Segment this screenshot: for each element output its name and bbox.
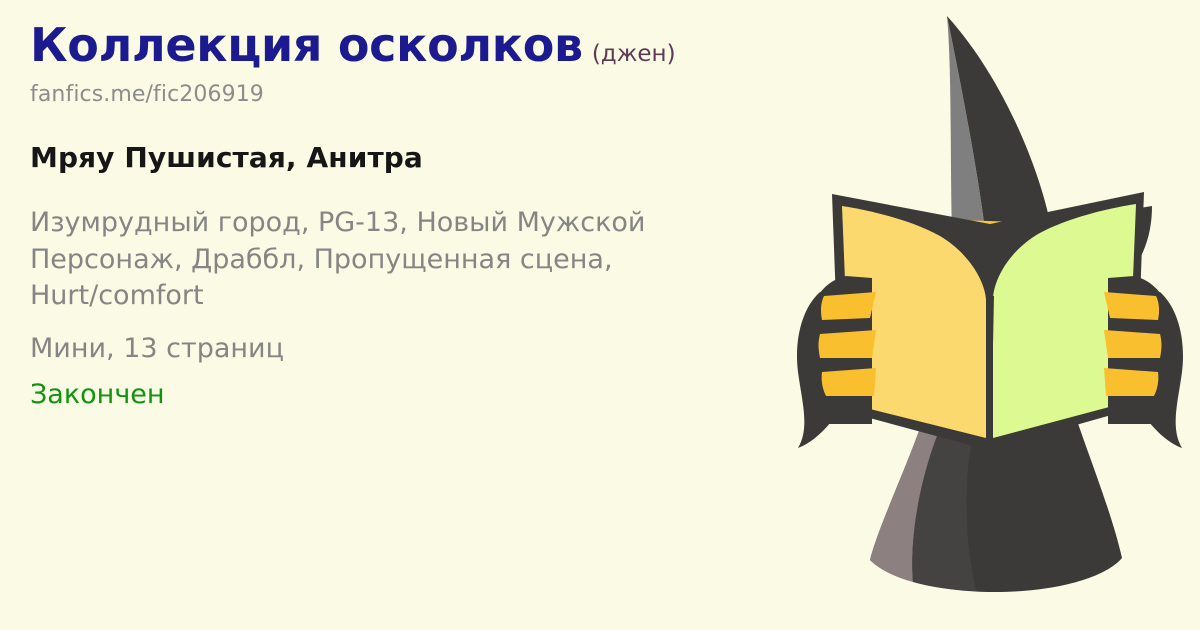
witch-reading-book-illustration [780, 0, 1200, 630]
status-badge: Закончен [30, 377, 820, 412]
title-row: Коллекция осколков(джен) [30, 22, 820, 68]
witch-hat [947, 16, 1052, 232]
fanfic-preview-card: Коллекция осколков(джен) fanfics.me/fic2… [0, 0, 1200, 630]
text-column: Коллекция осколков(джен) fanfics.me/fic2… [30, 22, 820, 412]
title-category-label: (джен) [592, 41, 676, 67]
right-hand [1104, 276, 1183, 448]
page-title: Коллекция осколков [30, 18, 583, 72]
source-url: fanfics.me/fic206919 [30, 82, 820, 107]
size-line: Мини, 13 страниц [30, 331, 820, 366]
left-hand [797, 276, 876, 448]
tags-line: Изумрудный город, PG-13, Новый Мужской П… [30, 205, 760, 315]
authors-line: Мряу Пушистая, Анитра [30, 141, 820, 174]
